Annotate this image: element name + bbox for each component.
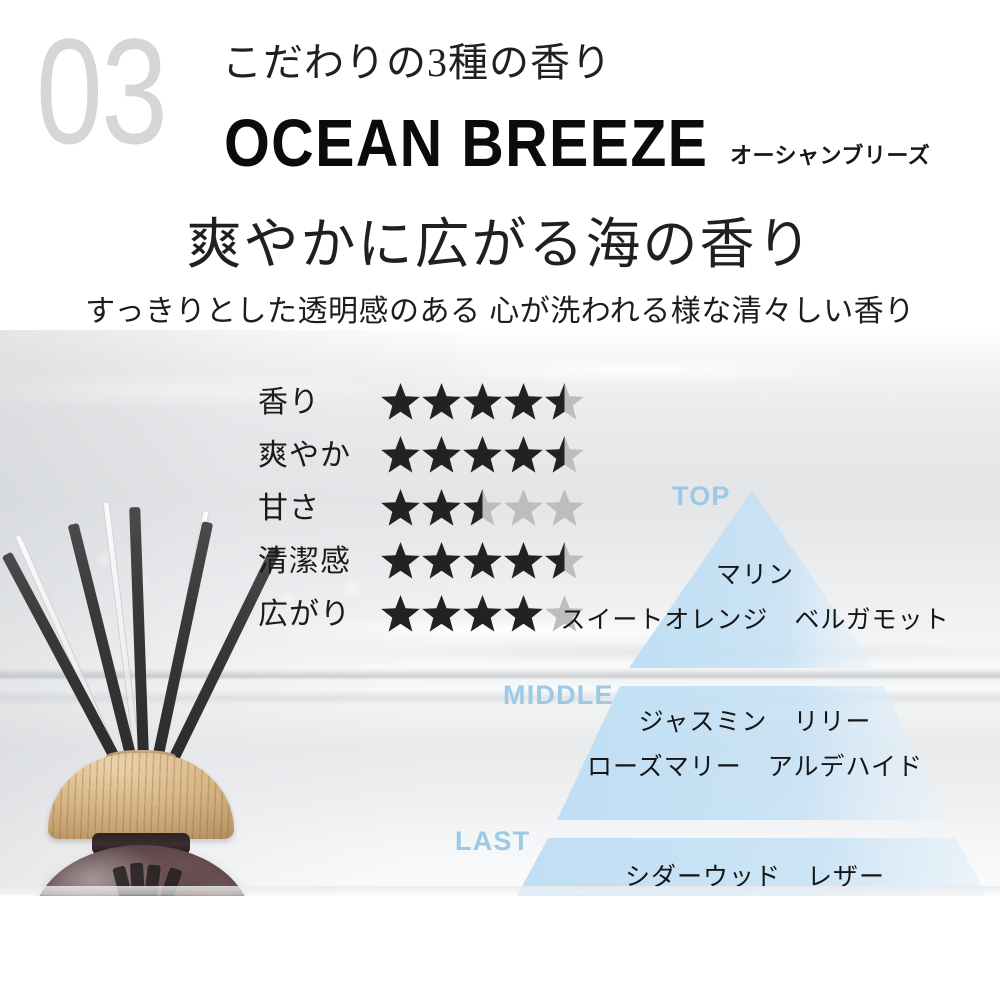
star-full-icon — [380, 593, 421, 634]
kicker-text: こだわりの3種の香り — [222, 40, 612, 85]
star-full — [462, 434, 503, 475]
note-line: ローズマリー アルデハイド — [470, 745, 1000, 790]
star-full-icon — [421, 540, 462, 581]
lead-subline: すっきりとした透明感のある 心が洗われる様な清々しい香り — [0, 292, 1000, 332]
pyramid-notes-top: マリン スイートオレンジ ベルガモット — [470, 553, 1000, 643]
star-full — [503, 381, 544, 422]
rating-row: 甘さ — [258, 486, 588, 539]
section-number: 03 — [36, 16, 166, 166]
star-empty — [544, 487, 585, 528]
pyramid-label-top: TOP — [672, 481, 731, 511]
star-empty-icon — [544, 487, 585, 528]
rating-row: 爽やか — [258, 433, 588, 486]
star-full — [380, 434, 421, 475]
rating-label: 甘さ — [258, 490, 320, 528]
bottom-white-band — [0, 896, 1000, 1000]
page-title-kana: オーシャンブリーズ — [730, 144, 930, 168]
star-full — [380, 381, 421, 422]
star-full — [503, 434, 544, 475]
diffuser-wood-cap — [48, 753, 234, 839]
star-full — [421, 593, 462, 634]
star-full-icon — [503, 381, 544, 422]
reed-stick-4 — [152, 521, 213, 760]
star-full — [421, 487, 462, 528]
star-full-icon — [503, 434, 544, 475]
star-full — [380, 487, 421, 528]
star-full-icon — [421, 434, 462, 475]
rating-label: 爽やか — [258, 437, 351, 475]
rating-row: 香り — [258, 380, 588, 433]
rating-label: 広がり — [258, 596, 351, 634]
star-half — [544, 381, 585, 422]
note-line: マリン — [470, 553, 1000, 598]
star-full-icon — [462, 381, 503, 422]
pyramid-notes-middle: ジャスミン リリー ローズマリー アルデハイド — [470, 700, 1000, 790]
product-scent-panel: 03 こだわりの3種の香り OCEAN BREEZE オーシャンブリーズ 爽やか… — [0, 0, 1000, 1000]
star-full-icon — [421, 593, 462, 634]
note-line: スイートオレンジ ベルガモット — [470, 598, 1000, 643]
rating-stars — [380, 381, 585, 422]
star-half-icon — [462, 487, 503, 528]
star-full — [421, 381, 462, 422]
star-full-icon — [421, 487, 462, 528]
star-full — [380, 593, 421, 634]
star-half-icon — [544, 381, 585, 422]
page-title: OCEAN BREEZE — [224, 110, 708, 178]
star-full-icon — [380, 487, 421, 528]
star-empty-icon — [503, 487, 544, 528]
star-full — [380, 540, 421, 581]
star-full-icon — [380, 434, 421, 475]
star-half — [544, 434, 585, 475]
star-full — [421, 434, 462, 475]
star-half-icon — [544, 434, 585, 475]
lead-headline: 爽やかに広がる海の香り — [0, 212, 1000, 278]
star-full-icon — [380, 540, 421, 581]
star-full-icon — [462, 434, 503, 475]
reed-diffuser-product-image — [18, 495, 288, 935]
star-full-icon — [380, 381, 421, 422]
rating-stars — [380, 434, 585, 475]
section-kicker: こだわりの3種の香り — [222, 40, 612, 86]
pyramid-label-last: LAST — [455, 826, 530, 856]
star-half — [462, 487, 503, 528]
rating-label: 清潔感 — [258, 543, 351, 581]
star-full-icon — [421, 381, 462, 422]
star-full — [462, 381, 503, 422]
rating-label: 香り — [258, 384, 320, 422]
note-line: ジャスミン リリー — [470, 700, 1000, 745]
rating-stars — [380, 487, 585, 528]
star-full — [421, 540, 462, 581]
star-empty — [503, 487, 544, 528]
